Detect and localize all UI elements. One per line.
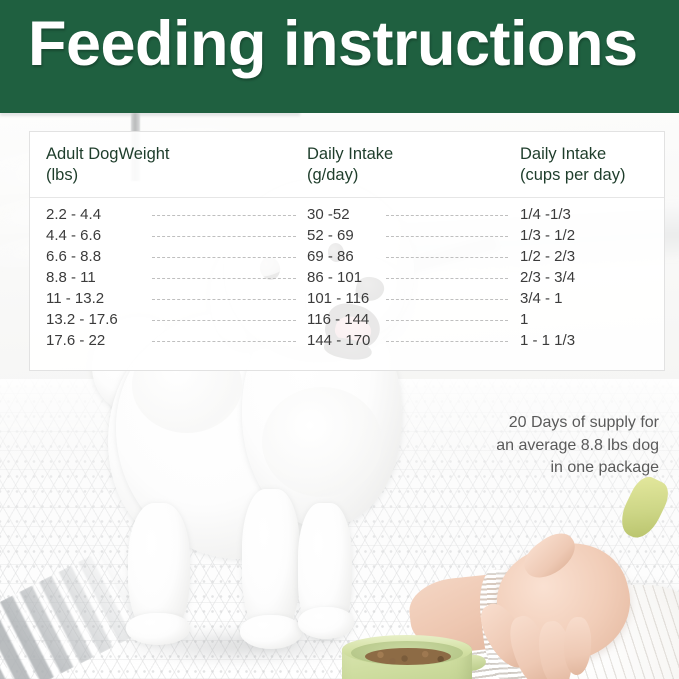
table-body: 2.2 - 4.4 30 -52 1/4 -1/3 4.4 - 6.6 52 -… (30, 198, 664, 352)
dashed-connector (152, 299, 296, 300)
dashed-connector (152, 215, 296, 216)
cell-cups: 3/4 - 1 (520, 290, 563, 307)
cell-grams: 144 - 170 (307, 332, 370, 349)
feeding-instructions-page: Feeding instructions Adult DogWeight (lb… (0, 0, 679, 679)
dashed-connector (152, 341, 296, 342)
cell-weight: 13.2 - 17.6 (46, 311, 118, 328)
cell-grams: 30 -52 (307, 206, 350, 223)
table-row: 2.2 - 4.4 30 -52 1/4 -1/3 (30, 205, 664, 226)
column-header-line1: Daily Intake (520, 145, 606, 163)
dashed-connector (386, 236, 508, 237)
dashed-connector (152, 278, 296, 279)
dog-food-bowl (340, 633, 488, 679)
cell-grams: 86 - 101 (307, 269, 362, 286)
column-header-line2: (g/day) (307, 166, 358, 184)
cell-weight: 4.4 - 6.6 (46, 227, 101, 244)
cell-weight: 2.2 - 4.4 (46, 206, 101, 223)
table-row: 17.6 - 22 144 - 170 1 - 1 1/3 (30, 331, 664, 352)
cell-grams: 69 - 86 (307, 248, 354, 265)
table-row: 6.6 - 8.8 69 - 86 1/2 - 2/3 (30, 247, 664, 268)
dashed-connector (152, 320, 296, 321)
cell-cups: 1 (520, 311, 528, 328)
cell-cups: 1 - 1 1/3 (520, 332, 575, 349)
dashed-connector (152, 257, 296, 258)
cell-grams: 101 - 116 (307, 290, 369, 307)
dashed-connector (386, 299, 508, 300)
column-header-line2: (lbs) (46, 166, 78, 184)
kibble-food (365, 648, 451, 665)
bowl-interior (351, 641, 463, 665)
table-row: 8.8 - 11 86 - 101 2/3 - 3/4 (30, 268, 664, 289)
table-row: 11 - 13.2 101 - 116 3/4 - 1 (30, 289, 664, 310)
header-banner: Feeding instructions (0, 0, 679, 113)
dashed-connector (386, 278, 508, 279)
dashed-connector (386, 341, 508, 342)
column-header-adult-dog-weight: Adult DogWeight (lbs) (46, 144, 170, 186)
cell-weight: 17.6 - 22 (46, 332, 105, 349)
column-header-line2: (cups per day) (520, 166, 625, 184)
dashed-connector (152, 236, 296, 237)
dashed-connector (386, 215, 508, 216)
cell-cups: 2/3 - 3/4 (520, 269, 575, 286)
table-header-row: Adult DogWeight (lbs) Daily Intake (g/da… (30, 132, 664, 198)
supply-note: 20 Days of supply for an average 8.8 lbs… (359, 412, 659, 480)
column-header-line1: Adult DogWeight (46, 145, 170, 163)
page-title: Feeding instructions (28, 13, 638, 76)
dog-paw (240, 615, 302, 649)
cell-cups: 1/4 -1/3 (520, 206, 571, 223)
cell-weight: 6.6 - 8.8 (46, 248, 101, 265)
dashed-connector (386, 320, 508, 321)
supply-note-line-3: in one package (359, 457, 659, 480)
cell-grams: 52 - 69 (307, 227, 354, 244)
cell-weight: 8.8 - 11 (46, 269, 96, 286)
supply-note-line-2: an average 8.8 lbs dog (359, 435, 659, 458)
dog-paw (126, 613, 190, 645)
column-header-daily-intake-cups: Daily Intake (cups per day) (520, 144, 625, 186)
green-measuring-scoop (614, 472, 674, 544)
cell-cups: 1/3 - 1/2 (520, 227, 575, 244)
feeding-chart-table: Adult DogWeight (lbs) Daily Intake (g/da… (29, 131, 665, 371)
column-header-line1: Daily Intake (307, 145, 393, 163)
table-row: 13.2 - 17.6 116 - 144 1 (30, 310, 664, 331)
cell-cups: 1/2 - 2/3 (520, 248, 575, 265)
dashed-connector (386, 257, 508, 258)
cell-grams: 116 - 144 (307, 311, 369, 328)
furniture-edge (0, 113, 300, 116)
table-row: 4.4 - 6.6 52 - 69 1/3 - 1/2 (30, 226, 664, 247)
cell-weight: 11 - 13.2 (46, 290, 104, 307)
column-header-daily-intake-grams: Daily Intake (g/day) (307, 144, 393, 186)
supply-note-line-1: 20 Days of supply for (359, 412, 659, 435)
